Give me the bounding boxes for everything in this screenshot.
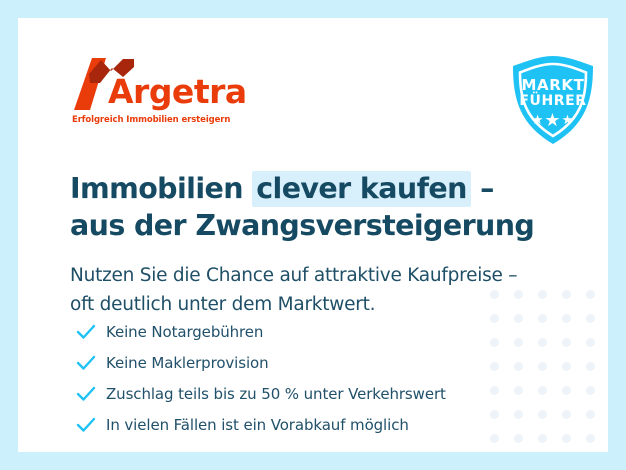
decorative-dot — [586, 314, 595, 323]
decorative-dot — [586, 338, 595, 347]
decorative-dot — [562, 410, 571, 419]
decorative-dot — [562, 434, 571, 443]
headline-highlight: clever kaufen — [252, 171, 471, 207]
benefit-label: Zuschlag teils bis zu 50 % unter Verkehr… — [106, 385, 446, 403]
decorative-dot — [562, 386, 571, 395]
check-icon — [75, 378, 106, 409]
market-leader-badge: MARKT FÜHRER ★★★ — [507, 54, 599, 146]
benefit-label: Keine Maklerprovision — [106, 354, 269, 372]
list-item: In vielen Fällen ist ein Vorabkauf mögli… — [75, 409, 545, 440]
benefit-label: In vielen Fällen ist ein Vorabkauf mögli… — [106, 416, 409, 434]
headline-line1-before: Immobilien — [70, 172, 252, 205]
star-icon-center: ★ — [544, 110, 561, 130]
benefits-list: Keine Notargebühren Keine Maklerprovisio… — [75, 316, 545, 440]
logo-tagline: Erfolgreich Immobilien ersteigern — [72, 115, 230, 125]
benefit-label: Keine Notargebühren — [106, 323, 263, 341]
check-icon — [75, 409, 106, 440]
badge-stars: ★★★ — [507, 111, 599, 129]
headline-line1-after: – — [471, 172, 494, 205]
decorative-dot — [586, 290, 595, 299]
check-icon — [75, 347, 106, 378]
list-item: Keine Notargebühren — [75, 316, 545, 347]
list-item: Keine Maklerprovision — [75, 347, 545, 378]
subheadline-line2: oft deutlich unter dem Marktwert. — [70, 294, 375, 315]
badge-line-1: MARKT — [507, 76, 599, 94]
argetra-logo[interactable]: Argetra Erfolgreich Immobilien ersteiger… — [70, 58, 270, 130]
decorative-dot — [562, 338, 571, 347]
decorative-dot — [586, 434, 595, 443]
star-icon-right: ★ — [562, 112, 575, 127]
badge-line-2: FÜHRER — [507, 93, 599, 109]
subheadline: Nutzen Sie die Chance auf attraktive Kau… — [70, 261, 570, 319]
logo-wordmark: Argetra — [108, 75, 247, 108]
list-item: Zuschlag teils bis zu 50 % unter Verkehr… — [75, 378, 545, 409]
decorative-dot — [586, 386, 595, 395]
star-icon-left: ★ — [532, 112, 545, 127]
subheadline-line1: Nutzen Sie die Chance auf attraktive Kau… — [70, 265, 517, 286]
headline-line2: aus der Zwangsversteigerung — [70, 209, 534, 242]
decorative-dot — [562, 362, 571, 371]
check-icon — [75, 316, 106, 347]
banner-card: Argetra Erfolgreich Immobilien ersteiger… — [18, 18, 608, 452]
promo-banner: Argetra Erfolgreich Immobilien ersteiger… — [0, 0, 626, 470]
decorative-dot — [586, 362, 595, 371]
headline: Immobilien clever kaufen – aus der Zwang… — [70, 170, 570, 244]
decorative-dot — [586, 410, 595, 419]
